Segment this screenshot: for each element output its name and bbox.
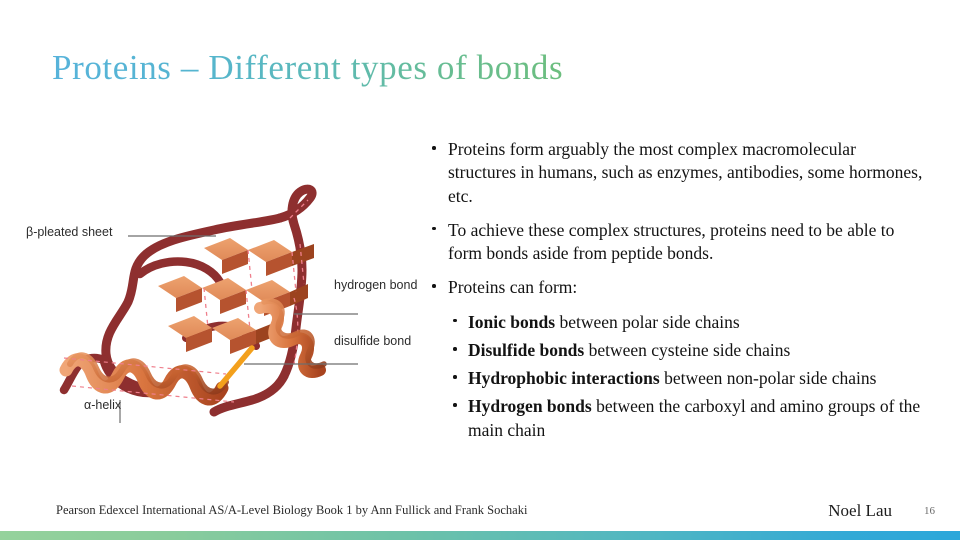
label-alpha-helix: α-helix [84,398,121,412]
bullet-dot-icon [453,347,457,351]
slide: Proteins – Different types of bonds [0,0,960,540]
bullet-dot-icon [453,375,457,379]
page-title: Proteins – Different types of bonds [52,48,563,88]
disulfide-bond-bar [220,348,252,386]
sub-bullet-term: Ionic bonds [468,312,555,332]
sub-bullet-rest: between cysteine side chains [584,340,790,360]
page-number: 16 [924,505,935,517]
bullet-dot-icon [453,403,457,407]
author-signature: Noel Lau [828,501,892,521]
bullet-dot-icon [453,319,457,323]
bullet-item: Proteins form arguably the most complex … [426,138,926,208]
sub-bullet-rest: between polar side chains [555,312,740,332]
bullet-dot-icon [432,227,436,231]
alpha-helix-coil [64,355,234,402]
sub-bullet-list: Ionic bonds between polar side chains Di… [426,311,926,442]
bullet-text: Proteins form arguably the most complex … [448,139,922,206]
label-beta-pleated-sheet: β-pleated sheet [26,225,112,239]
sub-bullet-item: Ionic bonds between polar side chains [447,311,926,334]
sub-bullet-term: Disulfide bonds [468,340,584,360]
bullet-item: To achieve these complex structures, pro… [426,219,926,266]
bullet-dot-icon [432,284,436,288]
bullet-text: Proteins can form: [448,277,577,297]
sub-bullet-item: Hydrogen bonds between the carboxyl and … [447,395,926,442]
sub-bullet-item: Disulfide bonds between cysteine side ch… [447,339,926,362]
protein-structure-diagram: β-pleated sheet hydrogen bond disulfide … [8,178,428,423]
content-text-column: Proteins form arguably the most complex … [426,138,926,447]
source-citation: Pearson Edexcel International AS/A-Level… [56,503,527,518]
bullet-text: To achieve these complex structures, pro… [448,220,894,263]
label-disulfide-bond: disulfide bond [334,334,411,348]
sub-bullet-term: Hydrophobic interactions [468,368,660,388]
sub-bullet-rest: between non-polar side chains [660,368,877,388]
sub-bullet-term: Hydrogen bonds [468,396,592,416]
bullet-dot-icon [432,146,436,150]
bullet-item: Proteins can form: [426,276,926,299]
label-hydrogen-bond: hydrogen bond [334,278,417,292]
bottom-accent-bar [0,531,960,540]
sub-bullet-item: Hydrophobic interactions between non-pol… [447,367,926,390]
